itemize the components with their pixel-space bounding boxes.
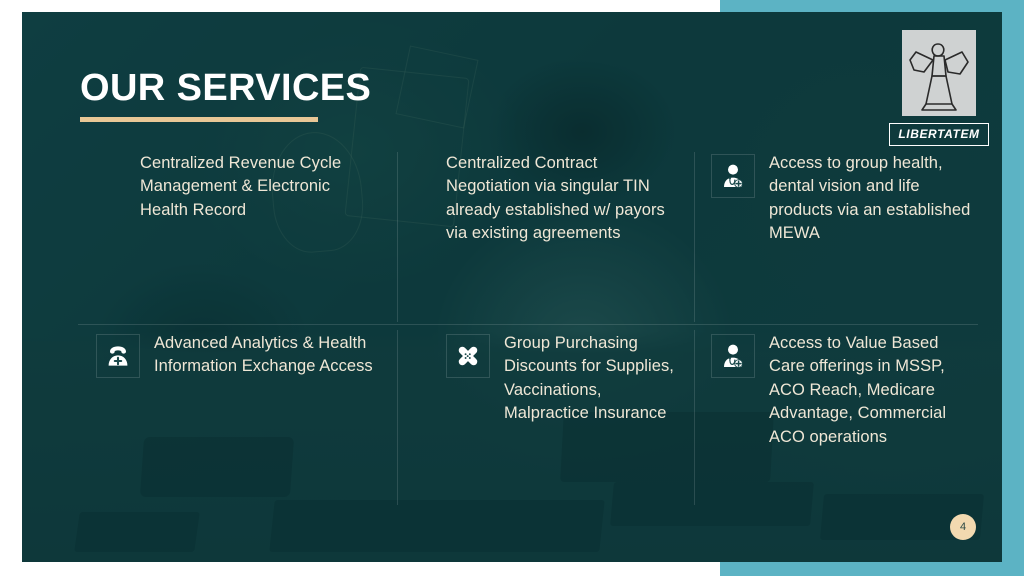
services-grid: Centralized Revenue Cycle Management & E… — [78, 152, 990, 512]
services-row-top: Centralized Revenue Cycle Management & E… — [78, 152, 990, 324]
service-item-label: Centralized Contract Negotiation via sin… — [446, 152, 677, 246]
page-number-badge: 4 — [950, 514, 976, 540]
emergency-phone-icon — [96, 334, 140, 378]
whiteboard-scribble — [395, 45, 478, 128]
doctor-icon — [711, 334, 755, 378]
brand-logo: LIBERTATEM — [902, 30, 976, 146]
service-item-revenue-cycle[interactable]: Centralized Revenue Cycle Management & E… — [78, 152, 398, 324]
service-item-contract-negotiation[interactable]: Centralized Contract Negotiation via sin… — [398, 152, 695, 324]
slide-our-services: OUR SERVICES LIBERTATEM — [0, 0, 1024, 576]
service-item-label: Centralized Revenue Cycle Management & E… — [140, 152, 378, 222]
doctor-icon — [711, 154, 755, 198]
service-item-group-health[interactable]: Access to group health, dental vision an… — [695, 152, 990, 324]
service-item-label: Group Purchasing Discounts for Supplies,… — [504, 332, 677, 426]
service-item-analytics-hie[interactable]: Advanced Analytics & Health Information … — [78, 332, 398, 512]
teal-bottom-strip — [720, 562, 1024, 576]
page-title-group: OUR SERVICES — [80, 69, 371, 122]
angel-figure-icon — [902, 30, 976, 116]
service-item-value-based-care[interactable]: Access to Value Based Care offerings in … — [695, 332, 990, 512]
service-item-group-purchasing[interactable]: Group Purchasing Discounts for Supplies,… — [398, 332, 695, 512]
service-item-label: Access to Value Based Care offerings in … — [769, 332, 972, 449]
content-panel: OUR SERVICES LIBERTATEM — [22, 12, 1002, 562]
service-item-label: Access to group health, dental vision an… — [769, 152, 972, 246]
keyboard-shape — [74, 512, 200, 552]
services-row-bottom: Advanced Analytics & Health Information … — [78, 332, 990, 512]
page-title: OUR SERVICES — [80, 69, 371, 109]
logo-wordmark: LIBERTATEM — [889, 123, 989, 146]
bandages-icon — [446, 334, 490, 378]
title-underline-rule — [80, 117, 318, 122]
service-item-label: Advanced Analytics & Health Information … — [154, 332, 380, 379]
